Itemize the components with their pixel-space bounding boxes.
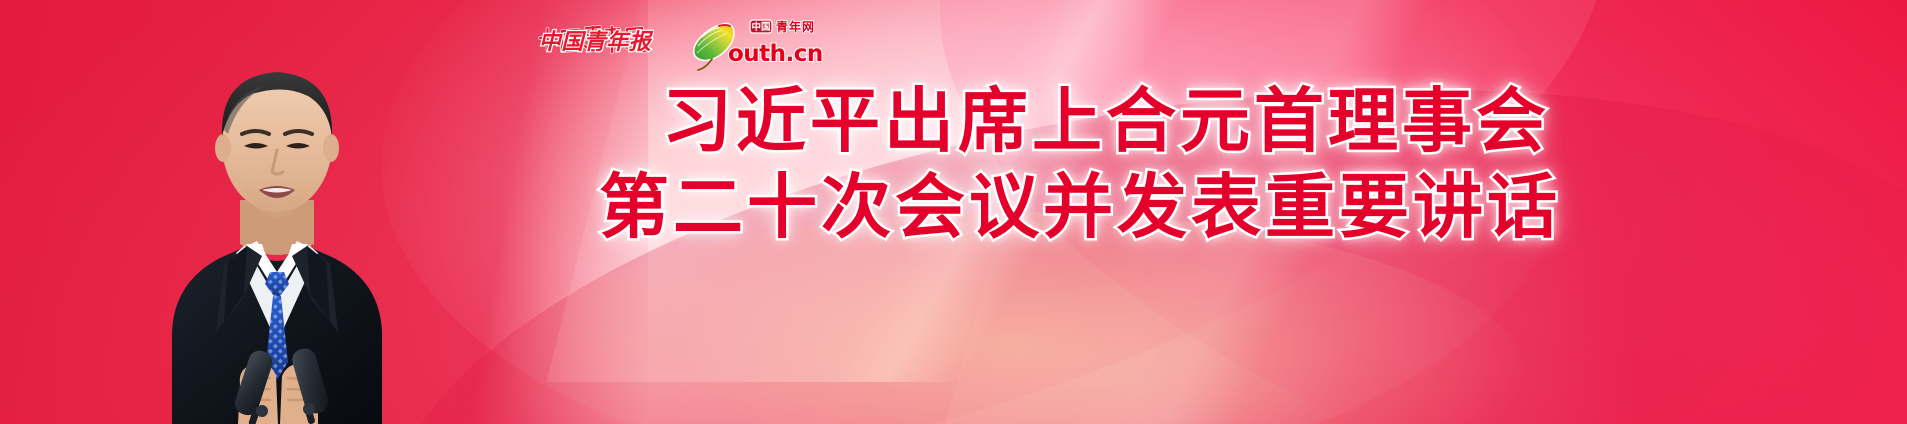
china-youth-daily-wordmark: 中国青年报 [539, 29, 654, 55]
badge-secondary-text: 青年网 [776, 19, 815, 34]
youth-cn-badge: 中国 青年网 [750, 19, 815, 34]
headline-block: 习近平出席上合元首理事会 第二十次会议并发表重要讲话 [430, 78, 1730, 250]
headline-line-1: 习近平出席上合元首理事会 [482, 78, 1730, 164]
news-banner: 中国青年报 [0, 0, 1907, 424]
youth-cn-wordmark: outh.cn [728, 41, 823, 67]
china-youth-daily-logo[interactable]: 中国青年报 [536, 21, 654, 67]
logo-bar: 中国青年报 [536, 16, 845, 72]
badge-primary-text: 中国 [751, 21, 770, 33]
speaker-portrait [112, 32, 442, 424]
youth-cn-logo[interactable]: 中国 青年网 outh.cn [680, 16, 845, 72]
headline-line-2: 第二十次会议并发表重要讲话 [430, 164, 1730, 250]
